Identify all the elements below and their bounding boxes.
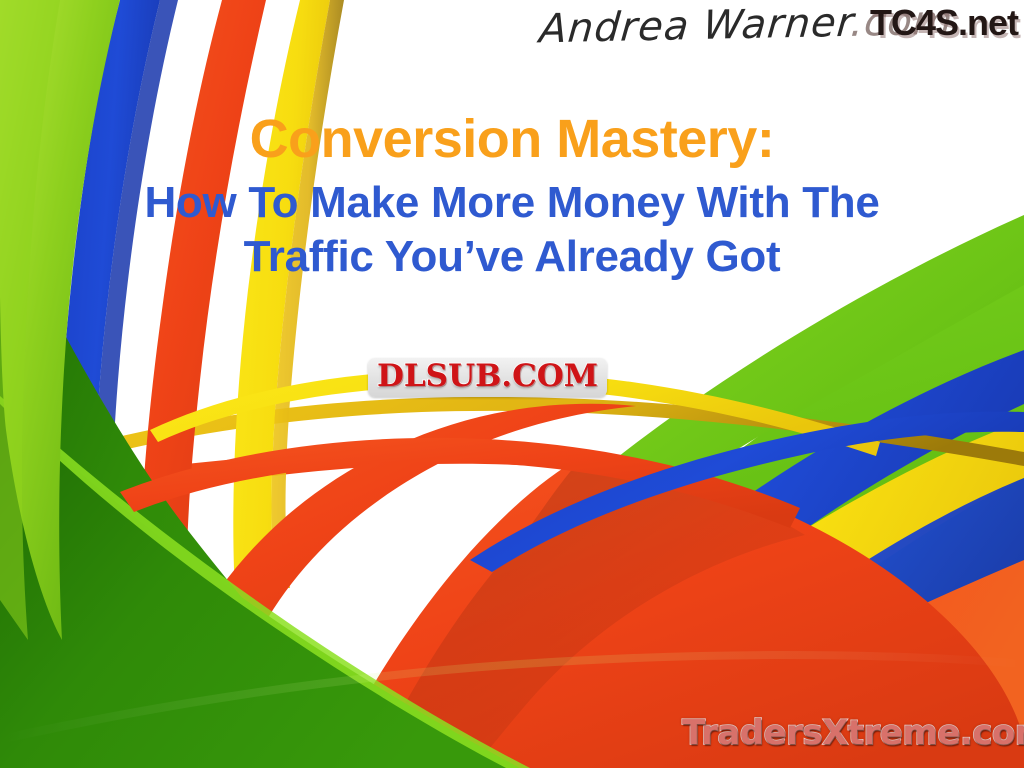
slide-title-block: Conversion Mastery: How To Make More Mon… <box>0 108 1024 285</box>
slide-subtitle-line-1: How To Make More Money With The <box>0 176 1024 231</box>
presentation-slide: Andrea Warner.com TC4S.net Conversion Ma… <box>0 0 1024 768</box>
watermark-dlsub: DLSUB.COM <box>368 358 607 397</box>
slide-subtitle-line-2: Traffic You’ve Already Got <box>0 230 1024 285</box>
page-title: Conversion Mastery: <box>0 108 1024 172</box>
watermark-tc4s: TC4S.net <box>870 2 1018 44</box>
watermark-tradersxtreme: TradersXtreme.com <box>682 716 1024 752</box>
author-signature-name: Andrea Warner <box>538 0 853 52</box>
watermark-dlsub-label: DLSUB.COM <box>377 360 598 393</box>
watermark-tradersxtreme-label: TradersXtreme.com <box>682 716 1024 752</box>
